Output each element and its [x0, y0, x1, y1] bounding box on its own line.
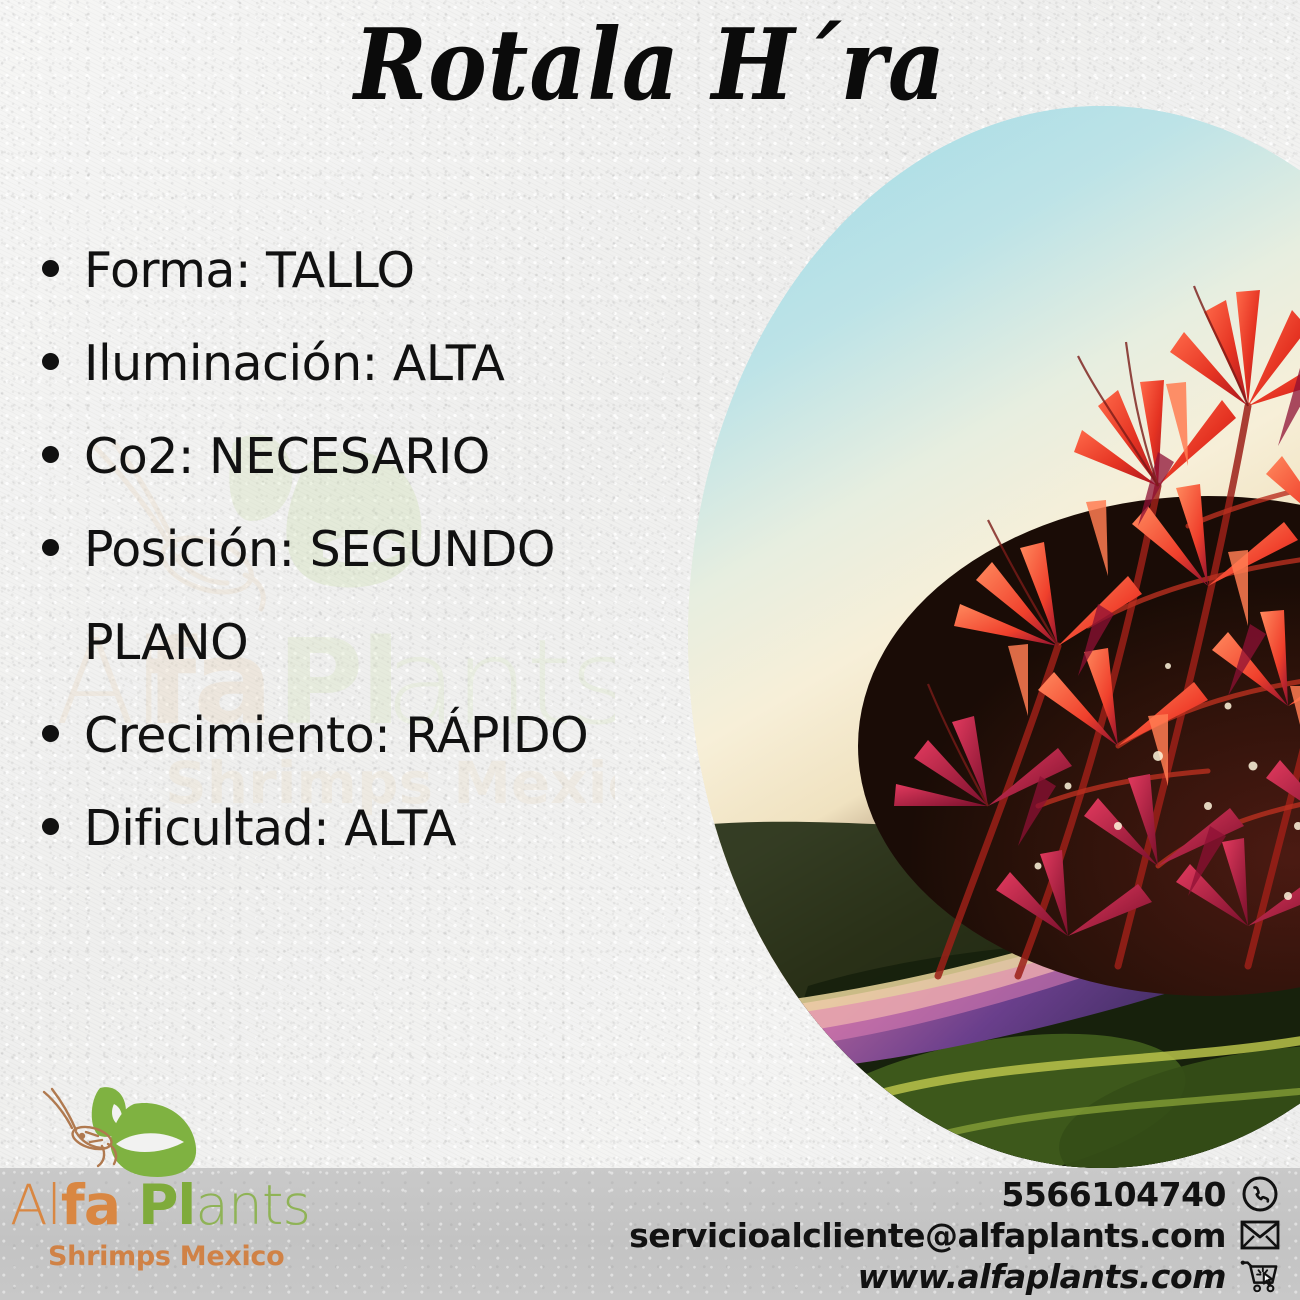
spec-text: Iluminación: ALTA — [84, 335, 504, 392]
logo-word-fa: fa — [61, 1173, 120, 1237]
spec-item-forma: Forma: TALLO — [28, 224, 708, 317]
logo-word-al: Al — [10, 1173, 61, 1237]
phone-number: 5566104740 — [1001, 1178, 1226, 1211]
plant-spec-list: Forma: TALLO Iluminación: ALTA Co2: NECE… — [28, 224, 708, 875]
bullet-dot — [42, 725, 59, 742]
logo-word-pl: Pl — [120, 1173, 195, 1237]
spec-text: Forma: TALLO — [84, 242, 415, 299]
spec-item-co2: Co2: NECESARIO — [28, 410, 708, 503]
contact-block: 5566104740 servicioalcliente@alfaplants.… — [629, 1174, 1280, 1296]
contact-email-row[interactable]: servicioalcliente@alfaplants.com — [629, 1215, 1280, 1255]
logo-word-ants: ants — [195, 1173, 310, 1237]
spec-item-posicion: Posición: SEGUNDO PLANO — [28, 503, 708, 689]
poster-canvas: Al fa Pl ants Shrimps Mexico — [0, 0, 1300, 1300]
brand-logo: Alfa Plants Shrimps Mexico — [10, 1086, 290, 1286]
spec-item-iluminacion: Iluminación: ALTA — [28, 317, 708, 410]
contact-phone-row[interactable]: 5566104740 — [1001, 1174, 1280, 1214]
logo-mark — [38, 1086, 198, 1181]
email-address: servicioalcliente@alfaplants.com — [629, 1219, 1226, 1252]
spec-item-dificultad: Dificultad: ALTA — [28, 782, 708, 875]
spec-text: Crecimiento: RÁPIDO — [84, 707, 588, 764]
bullet-dot — [42, 260, 59, 277]
shopping-cart-icon — [1240, 1256, 1280, 1296]
spec-text: Dificultad: ALTA — [84, 800, 456, 857]
bullet-dot — [42, 353, 59, 370]
logo-tagline: Shrimps Mexico — [48, 1241, 284, 1272]
spec-text: Posición: SEGUNDO PLANO — [84, 521, 555, 671]
logo-wordmark: Alfa Plants — [10, 1178, 310, 1233]
bullet-dot — [42, 446, 59, 463]
website-url: www.alfaplants.com — [858, 1260, 1226, 1293]
spec-text: Co2: NECESARIO — [84, 428, 490, 485]
bullet-dot — [42, 539, 59, 556]
phone-icon — [1240, 1174, 1280, 1214]
envelope-icon — [1240, 1215, 1280, 1255]
contact-website-row[interactable]: www.alfaplants.com — [858, 1256, 1280, 1296]
page-title: Rotala H´ra — [0, 6, 1300, 122]
spec-item-crecimiento: Crecimiento: RÁPIDO — [28, 689, 708, 782]
bullet-dot — [42, 818, 59, 835]
